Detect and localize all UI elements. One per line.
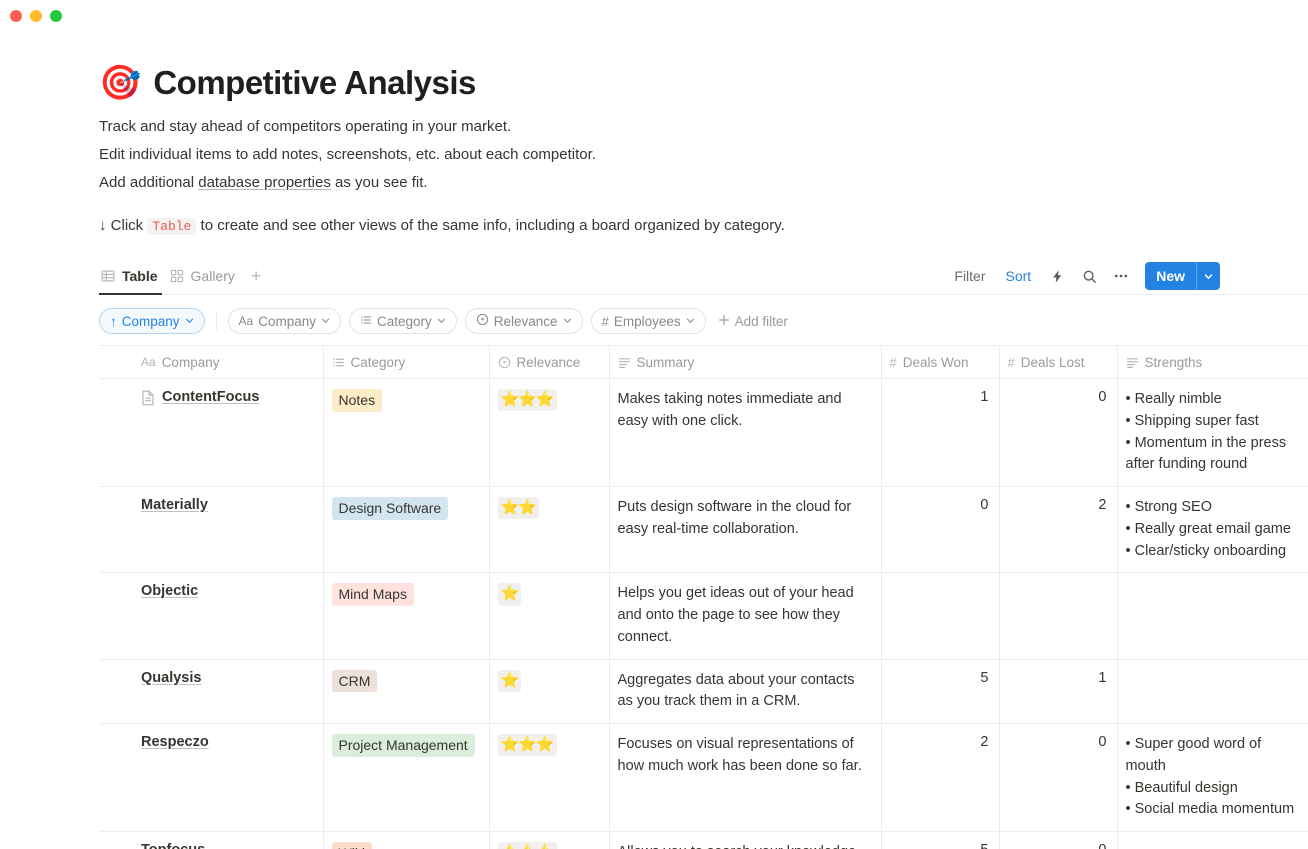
cell-strengths[interactable]	[1117, 832, 1308, 849]
cell-strengths[interactable]: • Super good word of mouth• Beautiful de…	[1117, 724, 1308, 832]
cell-category[interactable]: Mind Maps	[323, 573, 489, 659]
cell-deals-lost[interactable]	[999, 573, 1117, 659]
page-document-icon	[141, 390, 155, 409]
page-title: Competitive Analysis	[153, 64, 476, 102]
filter-button[interactable]: Filter	[946, 264, 993, 288]
cell-strengths[interactable]: • Really nimble• Shipping super fast• Mo…	[1117, 379, 1308, 487]
minimize-window-button[interactable]	[30, 10, 42, 22]
relevance-stars: ⭐	[498, 583, 522, 605]
cell-summary[interactable]: Aggregates data about your contacts as y…	[609, 659, 881, 724]
page-header: 🎯 Competitive Analysis	[99, 64, 1308, 102]
filter-chip-relevance-label: Relevance	[494, 314, 558, 329]
cell-company[interactable]: Qualysis	[133, 659, 323, 724]
list-icon	[360, 314, 372, 329]
number-property-icon: #	[1008, 355, 1015, 370]
column-header-deals-won-label: Deals Won	[903, 355, 969, 370]
search-icon[interactable]	[1075, 263, 1103, 289]
chevron-down-icon[interactable]	[1197, 262, 1220, 290]
relevance-stars: ⭐⭐⭐	[498, 842, 557, 849]
deals-won-value: 0	[890, 497, 991, 513]
summary-text: Helps you get ideas out of your head and…	[618, 583, 873, 648]
sort-chip-label: Company	[122, 314, 180, 329]
list-icon	[332, 356, 345, 369]
summary-text: Aggregates data about your contacts as y…	[618, 670, 873, 714]
cell-relevance[interactable]: ⭐	[489, 573, 609, 659]
description-line-1: Track and stay ahead of competitors oper…	[99, 116, 1308, 138]
category-tag: Mind Maps	[332, 583, 414, 606]
text-icon	[1126, 356, 1139, 369]
plus-icon	[718, 314, 730, 329]
relevance-stars: ⭐	[498, 670, 522, 692]
relevance-stars: ⭐⭐⭐	[498, 734, 557, 756]
view-tabs: Table Gallery +	[99, 258, 267, 294]
hint-suffix: to create and see other views of the sam…	[196, 217, 784, 234]
page-description: Track and stay ahead of competitors oper…	[99, 116, 1308, 193]
cell-deals-lost[interactable]: 1	[999, 659, 1117, 724]
column-header-category[interactable]: Category	[323, 346, 489, 379]
tab-gallery-label: Gallery	[191, 268, 235, 284]
sort-ascending-icon: ↑	[110, 314, 117, 329]
category-tag: Project Management	[332, 734, 475, 757]
row-gutter-header	[99, 346, 133, 379]
cell-deals-won[interactable]: 1	[881, 379, 999, 487]
cell-relevance[interactable]: ⭐	[489, 659, 609, 724]
summary-text: Puts design software in the cloud for ea…	[618, 497, 873, 541]
hint-code-chip: Table	[147, 218, 196, 235]
number-property-icon: #	[890, 355, 897, 370]
description-prefix: Add additional	[99, 174, 198, 191]
cell-relevance[interactable]: ⭐⭐⭐	[489, 379, 609, 487]
database-table: Aa Company	[99, 345, 1308, 849]
new-button[interactable]: New	[1145, 262, 1220, 290]
table-row[interactable]: Qualysis CRM ⭐ Aggregates data about you…	[99, 659, 1308, 724]
chevron-down-icon	[321, 316, 330, 327]
column-header-relevance-label: Relevance	[517, 355, 581, 370]
tab-table[interactable]: Table	[99, 258, 162, 294]
cell-summary[interactable]: Focuses on visual representations of how…	[609, 724, 881, 832]
chip-divider	[216, 312, 217, 330]
row-gutter	[99, 487, 133, 573]
row-gutter	[99, 573, 133, 659]
relevance-stars: ⭐⭐	[498, 497, 539, 519]
company-link[interactable]: Materially	[141, 497, 208, 513]
cell-deals-won[interactable]: 5	[881, 832, 999, 849]
cell-strengths[interactable]: • Strong SEO• Really great email game• C…	[1117, 487, 1308, 573]
deals-lost-value: 1	[1008, 670, 1109, 686]
cell-summary[interactable]: Puts design software in the cloud for ea…	[609, 487, 881, 573]
sort-chip-company[interactable]: ↑ Company	[99, 308, 205, 334]
cell-relevance[interactable]: ⭐⭐⭐	[489, 724, 609, 832]
ellipsis-icon[interactable]	[1107, 263, 1135, 289]
number-property-icon: #	[602, 314, 609, 329]
column-header-strengths-label: Strengths	[1145, 355, 1203, 370]
cell-company[interactable]: Objectic	[133, 573, 323, 659]
column-header-deals-won[interactable]: # Deals Won	[881, 346, 999, 379]
database-properties-link[interactable]: database properties	[198, 174, 331, 191]
page-emoji-icon[interactable]: 🎯	[99, 66, 141, 100]
cell-category[interactable]: Design Software	[323, 487, 489, 573]
tab-gallery[interactable]: Gallery	[168, 258, 239, 294]
deals-lost-value: 0	[1008, 389, 1109, 405]
cell-category[interactable]: Notes	[323, 379, 489, 487]
tab-table-label: Table	[122, 268, 158, 284]
add-view-button[interactable]: +	[245, 267, 268, 285]
chevron-down-icon	[437, 316, 446, 327]
cell-summary[interactable]: Helps you get ideas out of your head and…	[609, 573, 881, 659]
strengths-text: • Really nimble• Shipping super fast• Mo…	[1126, 389, 1301, 476]
column-header-company[interactable]: Aa Company	[133, 346, 323, 379]
filter-chip-company[interactable]: Aa Company	[228, 308, 341, 334]
filter-chip-company-label: Company	[258, 314, 316, 329]
cell-company[interactable]: ContentFocus	[133, 379, 323, 487]
chevron-down-icon	[686, 316, 695, 327]
column-header-strengths[interactable]: Strengths	[1117, 346, 1308, 379]
cell-company[interactable]: Topfocus	[133, 832, 323, 849]
cell-relevance[interactable]: ⭐⭐⭐	[489, 832, 609, 849]
select-icon	[498, 356, 511, 369]
column-header-relevance[interactable]: Relevance	[489, 346, 609, 379]
table-header-row: Aa Company	[99, 346, 1308, 379]
add-filter-button[interactable]: Add filter	[714, 314, 792, 329]
deals-won-value: 5	[890, 842, 991, 849]
row-gutter	[99, 724, 133, 832]
cell-deals-lost[interactable]: 2	[999, 487, 1117, 573]
summary-text: Allows you to search your knowledge base…	[618, 842, 873, 849]
select-icon	[476, 313, 489, 329]
company-link[interactable]: Respeczo	[141, 734, 209, 750]
text-icon	[618, 356, 631, 369]
table-hint: ↓ Click Table to create and see other vi…	[99, 215, 1308, 237]
row-gutter	[99, 832, 133, 849]
category-tag: Design Software	[332, 497, 449, 520]
deals-won-value: 1	[890, 389, 991, 405]
table-row[interactable]: Topfocus Wiki ⭐⭐⭐ Allows you to search y…	[99, 832, 1308, 849]
page-content: 🎯 Competitive Analysis Track and stay ah…	[0, 64, 1308, 849]
cell-category[interactable]: Project Management	[323, 724, 489, 832]
text-property-icon: Aa	[141, 355, 156, 369]
cell-deals-lost[interactable]: 0	[999, 379, 1117, 487]
view-bar: Table Gallery + Filter Sort	[99, 259, 1308, 295]
filter-chip-relevance[interactable]: Relevance	[465, 308, 583, 334]
strengths-text: • Super good word of mouth• Beautiful de…	[1126, 734, 1301, 821]
description-line-3: Add additional database properties as yo…	[99, 172, 1308, 194]
lightning-icon[interactable]	[1043, 263, 1071, 289]
description-suffix: as you see fit.	[331, 174, 428, 191]
cell-deals-lost[interactable]: 0	[999, 832, 1117, 849]
deals-lost-value: 0	[1008, 842, 1109, 849]
category-tag: Notes	[332, 389, 383, 412]
cell-category[interactable]: Wiki	[323, 832, 489, 849]
row-gutter	[99, 659, 133, 724]
filter-chip-employees[interactable]: # Employees	[591, 308, 706, 334]
cell-deals-won[interactable]: 5	[881, 659, 999, 724]
table-row[interactable]: Respeczo Project Management ⭐⭐⭐ Focuses …	[99, 724, 1308, 832]
relevance-stars: ⭐⭐⭐	[498, 389, 557, 411]
cell-deals-won[interactable]	[881, 573, 999, 659]
table-body: ContentFocus Notes ⭐⭐⭐ Makes taking note…	[99, 379, 1308, 849]
category-tag: CRM	[332, 670, 378, 693]
row-gutter	[99, 379, 133, 487]
company-link[interactable]: Topfocus	[141, 842, 205, 849]
cell-deals-won[interactable]: 2	[881, 724, 999, 832]
table-icon	[101, 269, 115, 283]
close-window-button[interactable]	[10, 10, 22, 22]
cell-strengths[interactable]	[1117, 573, 1308, 659]
company-link[interactable]: Objectic	[141, 583, 198, 599]
chevron-down-icon	[185, 316, 194, 327]
column-header-category-label: Category	[351, 355, 406, 370]
column-header-summary-label: Summary	[637, 355, 695, 370]
hint-prefix: ↓ Click	[99, 217, 147, 234]
cell-relevance[interactable]: ⭐⭐	[489, 487, 609, 573]
text-property-icon: Aa	[239, 314, 254, 328]
cell-summary[interactable]: Makes taking notes immediate and easy wi…	[609, 379, 881, 487]
add-filter-label: Add filter	[735, 314, 788, 329]
summary-text: Makes taking notes immediate and easy wi…	[618, 389, 873, 433]
chevron-down-icon	[563, 316, 572, 327]
cell-summary[interactable]: Allows you to search your knowledge base…	[609, 832, 881, 849]
column-header-deals-lost-label: Deals Lost	[1021, 355, 1085, 370]
sort-button[interactable]: Sort	[998, 264, 1040, 288]
filter-chip-employees-label: Employees	[614, 314, 681, 329]
column-header-summary[interactable]: Summary	[609, 346, 881, 379]
deals-won-value: 5	[890, 670, 991, 686]
cell-deals-won[interactable]: 0	[881, 487, 999, 573]
cell-company[interactable]: Materially	[133, 487, 323, 573]
company-link[interactable]: Qualysis	[141, 670, 201, 686]
view-toolbar: Filter Sort New	[946, 262, 1220, 294]
summary-text: Focuses on visual representations of how…	[618, 734, 873, 778]
company-link[interactable]: ContentFocus	[162, 389, 259, 405]
deals-won-value: 2	[890, 734, 991, 750]
cell-company[interactable]: Respeczo	[133, 724, 323, 832]
zoom-window-button[interactable]	[50, 10, 62, 22]
description-line-2: Edit individual items to add notes, scre…	[99, 144, 1308, 166]
gallery-icon	[170, 269, 184, 283]
database-table-container: Aa Company	[99, 345, 1308, 849]
cell-strengths[interactable]	[1117, 659, 1308, 724]
column-header-deals-lost[interactable]: # Deals Lost	[999, 346, 1117, 379]
filter-chip-category-label: Category	[377, 314, 432, 329]
category-tag: Wiki	[332, 842, 372, 849]
cell-deals-lost[interactable]: 0	[999, 724, 1117, 832]
table-row[interactable]: Materially Design Software ⭐⭐ Puts desig…	[99, 487, 1308, 573]
strengths-text: • Strong SEO• Really great email game• C…	[1126, 497, 1301, 562]
deals-lost-value: 2	[1008, 497, 1109, 513]
window-title-bar	[0, 0, 1308, 32]
filter-chip-bar: ↑ Company Aa Company Category	[99, 307, 1308, 335]
new-button-label: New	[1145, 262, 1196, 290]
deals-lost-value: 0	[1008, 734, 1109, 750]
column-header-company-label: Company	[162, 355, 220, 370]
table-row[interactable]: ContentFocus Notes ⭐⭐⭐ Makes taking note…	[99, 379, 1308, 487]
table-row[interactable]: Objectic Mind Maps ⭐ Helps you get ideas…	[99, 573, 1308, 659]
cell-category[interactable]: CRM	[323, 659, 489, 724]
filter-chip-category[interactable]: Category	[349, 308, 457, 334]
